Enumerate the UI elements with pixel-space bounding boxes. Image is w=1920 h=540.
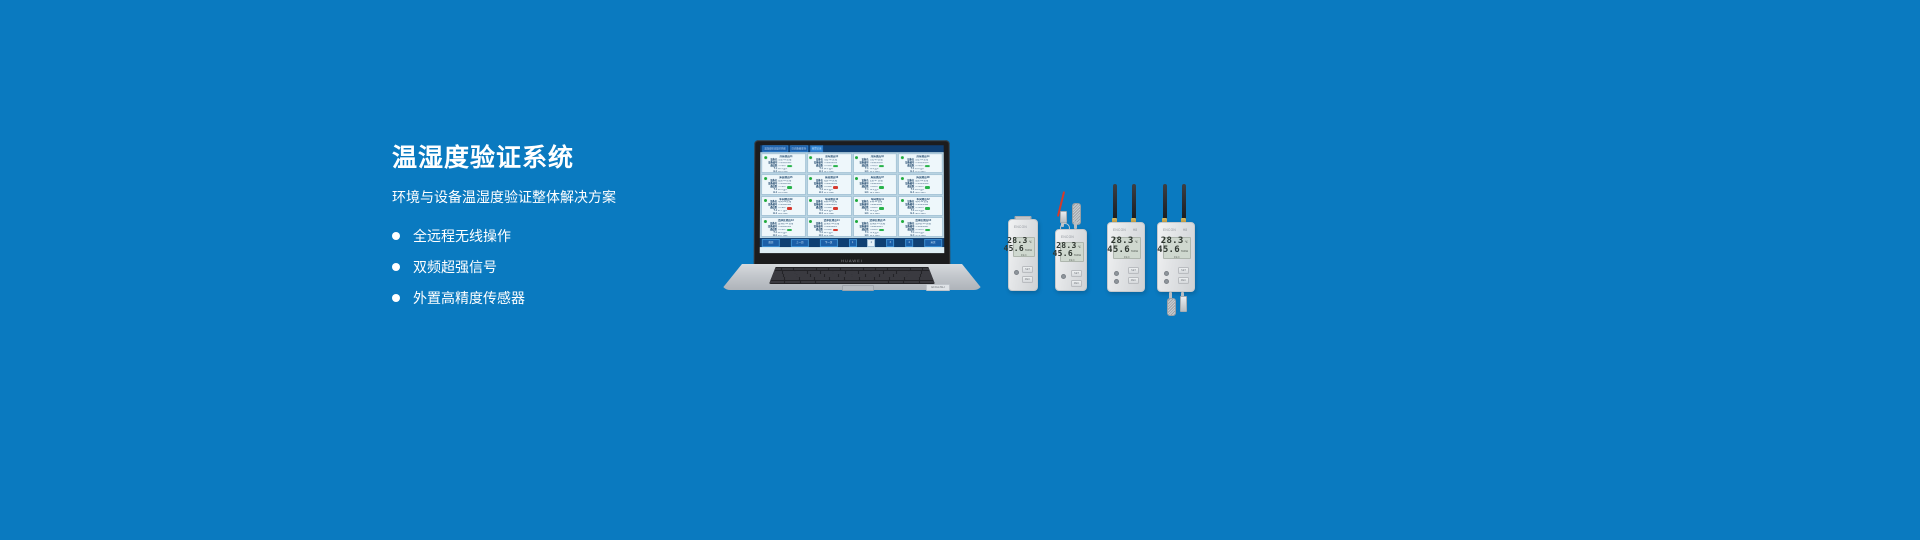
- feature-label: 外置高精度传感器: [413, 289, 525, 307]
- sensor-status-pill: [925, 229, 930, 231]
- sensor-card-row-hum: H-147.9 %RH: [905, 235, 941, 237]
- device-body: ENCON 28.3 ℃ 45.6 %RH REC SET REC: [1008, 219, 1038, 291]
- sensor-card-value: 48.6 %RH: [778, 171, 788, 173]
- pager-button[interactable]: 下一页: [820, 239, 838, 247]
- keyboard-row: [770, 274, 934, 276]
- sensor-card[interactable]: 车间测点11设备名车间-11 区域设备编号TH20250111通道数TH-2CH…: [852, 196, 897, 216]
- sensor-card-row-hum: H-149.5 %RH: [859, 192, 895, 194]
- sensor-card-value: 44.2 %RH: [870, 235, 880, 237]
- keyboard-key[interactable]: [880, 274, 893, 276]
- keyboard-spacebar[interactable]: [816, 281, 888, 283]
- sensor-card-title: 洁净区测点15: [860, 219, 896, 222]
- keyboard-key[interactable]: [833, 271, 845, 273]
- keyboard-row: [770, 281, 934, 283]
- keyboard-key[interactable]: [846, 271, 858, 273]
- device-led-icon: [1114, 271, 1119, 276]
- sensor-card-key: H-1: [768, 171, 777, 173]
- keyboard-key[interactable]: [904, 281, 918, 283]
- status-dot-icon: [901, 220, 904, 223]
- device-rec-button[interactable]: REC: [1022, 276, 1033, 283]
- keyboard-key[interactable]: [884, 271, 896, 273]
- sensor-card-row-hum: H-161.0 %RH: [814, 192, 850, 194]
- sensor-card-value: 50.1 %RH: [869, 171, 879, 173]
- sensor-card-value: 63.4 %RH: [824, 235, 834, 237]
- sensor-card-row-hum: H-148.0 %RH: [905, 213, 941, 215]
- status-dot-icon: [764, 199, 767, 202]
- product-banner: 温湿度验证系统 环境与设备温湿度验证整体解决方案 全远程无线操作 双频超强信号 …: [0, 0, 1920, 540]
- sensor-status-pill: [879, 165, 884, 167]
- tab-monitor[interactable]: 温湿度验证监控系统: [762, 145, 787, 152]
- keyboard-key[interactable]: [795, 271, 807, 273]
- device-set-button[interactable]: SET: [1128, 267, 1139, 274]
- status-dot-icon: [809, 199, 812, 202]
- sensor-card-key: H-1: [814, 213, 823, 215]
- keyboard-key[interactable]: [859, 271, 871, 273]
- sensor-status-pill: [925, 165, 930, 167]
- page-subtitle: 环境与设备温湿度验证整体解决方案: [392, 187, 722, 207]
- sensor-card-value: 51.3 %RH: [870, 213, 880, 215]
- status-dot-icon: [855, 199, 858, 202]
- sensor-card[interactable]: 冷库测点03设备名冷库-03 区域设备编号TH20250103通道数TH-2CH…: [852, 153, 897, 173]
- status-dot-icon: [901, 199, 904, 202]
- sensor-status-pill: [833, 207, 838, 209]
- keyboard-key[interactable]: [825, 274, 838, 276]
- device-led-icon: [1164, 271, 1169, 276]
- keyboard-key[interactable]: [907, 274, 920, 276]
- keyboard-key[interactable]: [920, 277, 934, 279]
- banner-copy: 温湿度验证系统 环境与设备温湿度验证整体解决方案 全远程无线操作 双频超强信号 …: [392, 143, 722, 320]
- sensor-card-value: 52.3 %RH: [824, 171, 834, 173]
- lcd-hum-value: 45.6: [1004, 245, 1024, 253]
- sensor-card-value: 61.0 %RH: [824, 192, 834, 194]
- sensor-card[interactable]: 洁净区测点16设备名洁净区-16 区域设备编号TH20250116通道数TH-2…: [898, 217, 943, 237]
- keyboard-key[interactable]: [801, 281, 815, 283]
- device-body: ENCON 28.3 ℃ 45.6 %RH REC SET REC: [1055, 229, 1087, 291]
- sensor-card-key: H-1: [814, 192, 823, 194]
- pager-button[interactable]: 1: [849, 239, 857, 247]
- sensor-status-pill: [925, 186, 930, 188]
- status-dot-icon: [809, 177, 812, 180]
- keyboard-key[interactable]: [888, 268, 899, 270]
- device-brand-label: ENCON: [1061, 235, 1074, 239]
- sensor-status-pill: [787, 207, 792, 209]
- device-brand-label: ENCON: [1014, 225, 1027, 229]
- keyboard-key[interactable]: [821, 271, 833, 273]
- status-dot-icon: [855, 177, 858, 180]
- keyboard-row: [770, 268, 934, 270]
- lcd-status-label: REC: [1166, 256, 1188, 259]
- device-button-group: SET REC: [1128, 267, 1139, 284]
- sensor-card-key: H-1: [859, 171, 868, 173]
- status-dot-icon: [809, 220, 812, 223]
- device-set-button[interactable]: SET: [1178, 267, 1189, 274]
- sensor-card-key: H-1: [860, 235, 869, 237]
- sensor-card[interactable]: 洁净区测点14设备名洁净区-14 区域设备编号TH20250114通道数TH-2…: [807, 217, 852, 237]
- keyboard-key[interactable]: [839, 274, 852, 276]
- sensor-card-key: H-1: [905, 213, 914, 215]
- laptop-foot-label: ENGLISH: [926, 284, 950, 291]
- sensor-card-title: 冷库测点03: [859, 155, 895, 158]
- antenna-icon: [1113, 184, 1117, 220]
- device-logger-wireless-3: ENCON H8 28.3 ℃ 45.6 %RH REC SET REC: [1107, 184, 1145, 292]
- sensor-card-row-hum: H-163.4 %RH: [814, 235, 850, 237]
- sensor-card-key: H-1: [768, 213, 777, 215]
- device-button-group: SET REC: [1022, 266, 1033, 283]
- sensor-card-title: 洁净区测点16: [905, 219, 941, 222]
- keyboard-key[interactable]: [770, 281, 784, 283]
- bullet-dot-icon: [392, 232, 400, 240]
- keyboard-key[interactable]: [852, 268, 863, 270]
- sensor-card[interactable]: 冷库测点01设备名冷库-01 区域设备编号TH20250101通道数TH-2CH…: [761, 153, 806, 173]
- sensor-card-title: 冷库测点02: [814, 155, 850, 158]
- sensor-card-row-hum: H-152.3 %RH: [814, 171, 850, 173]
- sensor-card-key: H-1: [859, 192, 868, 194]
- tab-alarms[interactable]: 报警记录: [810, 145, 824, 152]
- keyboard-key[interactable]: [800, 277, 814, 279]
- lcd-hum-row: 45.6 %RH: [1016, 245, 1032, 253]
- keyboard-key[interactable]: [852, 274, 865, 276]
- keyboard-key[interactable]: [875, 277, 889, 279]
- lcd-hum-value: 45.6: [1053, 250, 1073, 258]
- keyboard-key[interactable]: [794, 268, 805, 270]
- status-dot-icon: [855, 156, 858, 159]
- sensor-card[interactable]: 库房测点06设备名库房-06 区域设备编号TH20250106通道数TH-2CH…: [807, 174, 852, 194]
- sensor-card-row-hum: H-155.4 %RH: [768, 192, 804, 194]
- device-body: ENCON H8 28.3 ℃ 45.6 %RH REC SET REC: [1157, 222, 1195, 292]
- device-logger-probe-2: ENCON 28.3 ℃ 45.6 %RH REC SET REC: [1055, 199, 1087, 291]
- device-led-icon: [1014, 270, 1019, 275]
- sensor-card-row-hum: H-144.2 %RH: [860, 235, 896, 237]
- list-item: 外置高精度传感器: [392, 289, 722, 307]
- keyboard-key[interactable]: [841, 268, 852, 270]
- sensor-card-value: 58.2 %RH: [778, 213, 788, 215]
- sensor-card-value: 47.9 %RH: [915, 235, 926, 237]
- keyboard-key[interactable]: [866, 274, 879, 276]
- feature-label: 全远程无线操作: [413, 227, 511, 245]
- sensor-card[interactable]: 车间测点09设备名车间-09 区域设备编号TH20250109通道数TH-2CH…: [761, 196, 806, 216]
- sensor-card-title: 洁净区测点14: [814, 219, 850, 222]
- status-dot-icon: [764, 156, 767, 159]
- sensor-card[interactable]: 洁净区测点15设备名洁净区-15 区域设备编号TH20250115通道数TH-2…: [853, 217, 898, 237]
- feature-label: 双频超强信号: [413, 258, 497, 276]
- keyboard-key[interactable]: [783, 271, 795, 273]
- lcd-hum-row: 45.6 %RH: [1116, 246, 1138, 255]
- device-logger-compact-1: ENCON 28.3 ℃ 45.6 %RH REC SET REC: [1008, 219, 1038, 291]
- device-led-icon: [1061, 274, 1066, 279]
- sensor-card-value: 46.8 %RH: [915, 192, 925, 194]
- sensor-card[interactable]: 洁净区测点13设备名洁净区-13 区域设备编号TH20250113通道数TH-2…: [761, 217, 806, 237]
- keyboard-key[interactable]: [829, 268, 840, 270]
- lcd-hum-unit: %RH: [1025, 249, 1032, 252]
- lcd-temp-unit: ℃: [1185, 241, 1188, 244]
- lcd-hum-unit: %RH: [1074, 254, 1081, 257]
- sensor-card-row-hum: H-146.8 %RH: [905, 192, 941, 194]
- keyboard-key[interactable]: [897, 271, 909, 273]
- sensor-status-pill: [833, 186, 838, 188]
- lcd-status-label: REC: [1116, 256, 1138, 259]
- sensor-card-row-hum: H-158.2 %RH: [768, 213, 804, 215]
- sensor-status-pill: [879, 207, 884, 209]
- laptop-screen: 温湿度验证监控系统 历史数据查询 报警记录 冷库测点01设备名冷库-01 区域设…: [760, 145, 945, 253]
- sensor-card-value: 49.5 %RH: [869, 192, 879, 194]
- sensor-status-pill: [925, 207, 930, 209]
- lcd-hum-row: 45.6 %RH: [1166, 246, 1188, 255]
- sensor-card-key: H-1: [814, 171, 823, 173]
- page-title: 温湿度验证系统: [392, 143, 722, 173]
- sensor-card[interactable]: 库房测点05设备名库房-05 区域设备编号TH20250105通道数TH-2CH…: [761, 174, 806, 194]
- tab-history[interactable]: 历史数据查询: [790, 145, 808, 152]
- keyboard-key[interactable]: [864, 268, 875, 270]
- laptop-keyboard[interactable]: [769, 267, 935, 284]
- sensor-card[interactable]: 库房测点08设备名库房-08 区域设备编号TH20250108通道数TH-2CH…: [898, 174, 943, 194]
- sensor-status-pill: [787, 186, 792, 188]
- sensor-card-row-hum: H-159.9 %RH: [814, 213, 850, 215]
- laptop-lid: 温湿度验证监控系统 历史数据查询 报警记录 冷库测点01设备名冷库-01 区域设…: [754, 140, 951, 268]
- sensor-card-value: 59.9 %RH: [824, 213, 834, 215]
- keyboard-key[interactable]: [876, 268, 887, 270]
- sensor-card-title: 冷库测点04: [905, 155, 941, 158]
- lcd-status-label: REC: [1016, 254, 1032, 257]
- device-lcd: 28.3 ℃ 45.6 %RH REC: [1163, 237, 1191, 259]
- device-logger-wireless-4: ENCON H8 28.3 ℃ 45.6 %RH REC SET REC: [1157, 184, 1195, 314]
- status-dot-icon: [809, 156, 812, 159]
- device-model-label: H8: [1133, 228, 1137, 232]
- keyboard-key[interactable]: [817, 268, 828, 270]
- list-item: 全远程无线操作: [392, 227, 722, 245]
- sensor-status-pill: [833, 229, 838, 231]
- keyboard-key[interactable]: [905, 277, 919, 279]
- laptop-base: ENGLISH: [721, 264, 983, 296]
- probe-tip-icon: [1180, 296, 1187, 312]
- keyboard-key[interactable]: [920, 281, 934, 283]
- sensor-card-key: H-1: [860, 213, 869, 215]
- sensor-card[interactable]: 车间测点10设备名车间-10 区域设备编号TH20250110通道数TH-2CH…: [807, 196, 852, 216]
- status-dot-icon: [764, 177, 767, 180]
- bullet-dot-icon: [392, 263, 400, 271]
- sensor-card-value: 55.4 %RH: [778, 192, 788, 194]
- device-button-group: SET REC: [1178, 267, 1189, 284]
- laptop-illustration: 温湿度验证监控系统 历史数据查询 报警记录 冷库测点01设备名冷库-01 区域设…: [721, 140, 983, 296]
- probe-head-stem-icon: [1074, 221, 1077, 229]
- pager-button[interactable]: 2: [867, 239, 875, 247]
- sensor-card-row-hum: H-150.1 %RH: [859, 171, 895, 173]
- sensor-card-row-hum: H-148.6 %RH: [768, 171, 804, 173]
- keyboard-key[interactable]: [805, 268, 816, 270]
- sensor-card-key: H-1: [905, 192, 914, 194]
- sensor-card-key: H-1: [814, 235, 823, 237]
- sensor-status-pill: [879, 229, 884, 231]
- device-lcd: 28.3 ℃ 45.6 %RH REC: [1113, 237, 1141, 259]
- pager-button[interactable]: 首页: [762, 239, 780, 247]
- antenna-icon: [1132, 184, 1136, 220]
- status-dot-icon: [763, 220, 766, 223]
- device-led-icon: [1164, 279, 1169, 284]
- sensor-card-grid: 冷库测点01设备名冷库-01 区域设备编号TH20250101通道数TH-2CH…: [760, 152, 944, 238]
- device-set-button[interactable]: SET: [1022, 266, 1033, 273]
- keyboard-key[interactable]: [770, 277, 784, 279]
- antenna-icon: [1182, 184, 1186, 220]
- sensor-card-value: 47.2 %RH: [915, 171, 925, 173]
- keyboard-key[interactable]: [811, 274, 824, 276]
- sensor-card[interactable]: 库房测点07设备名库房-07 区域设备编号TH20250107通道数TH-2CH…: [852, 174, 897, 194]
- status-dot-icon: [855, 220, 858, 223]
- sensor-card-title: 冷库测点01: [768, 155, 804, 158]
- keyboard-key[interactable]: [889, 281, 903, 283]
- lcd-status-label: REC: [1063, 259, 1081, 262]
- sensor-card-key: H-1: [768, 235, 777, 237]
- keyboard-key[interactable]: [911, 268, 922, 270]
- keyboard-key[interactable]: [909, 271, 921, 273]
- keyboard-row: [770, 271, 934, 273]
- lcd-hum-unit: %RH: [1131, 250, 1138, 253]
- keyboard-key[interactable]: [845, 277, 859, 279]
- device-brand-label: ENCON: [1113, 228, 1126, 232]
- laptop-brand-label: HUAWEI: [841, 258, 863, 263]
- lcd-temp-unit: ℃: [1135, 241, 1138, 244]
- keyboard-key[interactable]: [782, 268, 793, 270]
- device-led-icon: [1114, 279, 1119, 284]
- sensor-status-pill: [787, 229, 792, 231]
- device-lcd: 28.3 ℃ 45.6 %RH REC: [1013, 237, 1035, 257]
- lcd-hum-value: 45.6: [1157, 246, 1180, 255]
- app-tabbar: 温湿度验证监控系统 历史数据查询 报警记录: [760, 145, 943, 152]
- sensor-card-row-hum: H-151.3 %RH: [860, 213, 896, 215]
- keyboard-key[interactable]: [830, 277, 844, 279]
- status-dot-icon: [901, 156, 904, 159]
- bullet-dot-icon: [392, 294, 400, 302]
- device-button-group: SET REC: [1071, 270, 1082, 287]
- pager-button[interactable]: 上一页: [791, 239, 809, 247]
- feature-list: 全远程无线操作 双频超强信号 外置高精度传感器: [392, 227, 722, 307]
- device-lcd: 28.3 ℃ 45.6 %RH REC: [1060, 242, 1084, 262]
- pager-button[interactable]: 末页: [924, 239, 942, 247]
- sensor-card[interactable]: 车间测点12设备名车间-12 区域设备编号TH20250112通道数TH-2CH…: [898, 196, 943, 216]
- pager-button[interactable]: 4: [905, 239, 913, 247]
- keyboard-key[interactable]: [797, 274, 810, 276]
- pager-button[interactable]: 3: [886, 239, 894, 247]
- keyboard-key[interactable]: [784, 274, 797, 276]
- lcd-hum-value: 45.6: [1107, 246, 1130, 255]
- device-rec-button[interactable]: REC: [1178, 277, 1189, 284]
- device-rec-button[interactable]: REC: [1071, 280, 1082, 287]
- sensor-status-pill: [879, 186, 884, 188]
- sensor-card-key: H-1: [905, 235, 914, 237]
- device-set-button[interactable]: SET: [1071, 270, 1082, 277]
- keyboard-key[interactable]: [808, 271, 820, 273]
- list-item: 双频超强信号: [392, 258, 722, 276]
- app-pager: 首页上一页下一页1234末页: [760, 238, 944, 247]
- lcd-hum-unit: %RH: [1181, 250, 1188, 253]
- keyboard-key[interactable]: [815, 277, 829, 279]
- keyboard-key[interactable]: [785, 281, 799, 283]
- keyboard-key[interactable]: [899, 268, 910, 270]
- keyboard-key[interactable]: [871, 271, 883, 273]
- device-body: ENCON H8 28.3 ℃ 45.6 %RH REC SET REC: [1107, 222, 1145, 292]
- lcd-temp-unit: ℃: [1029, 241, 1032, 244]
- device-brand-label: ENCON: [1163, 228, 1176, 232]
- sensor-card-value: 45.7 %RH: [778, 235, 789, 237]
- sensor-card-row-hum: H-147.2 %RH: [905, 171, 941, 173]
- antenna-icon: [1163, 184, 1167, 220]
- keyboard-key[interactable]: [890, 277, 904, 279]
- sensor-card-title: 洁净区测点13: [768, 219, 804, 222]
- keyboard-key[interactable]: [860, 277, 874, 279]
- keyboard-key[interactable]: [785, 277, 799, 279]
- laptop-trackpad[interactable]: [842, 285, 874, 291]
- sensor-card[interactable]: 冷库测点04设备名冷库-04 区域设备编号TH20250104通道数TH-2CH…: [898, 153, 943, 173]
- keyboard-row: [770, 277, 934, 279]
- lcd-temp-unit: ℃: [1078, 246, 1081, 249]
- sensor-card-value: 48.0 %RH: [915, 213, 925, 215]
- status-dot-icon: [901, 177, 904, 180]
- lcd-hum-row: 45.6 %RH: [1063, 250, 1081, 258]
- sensor-card-row-hum: H-145.7 %RH: [768, 235, 804, 237]
- probe-connector-icon: [1060, 211, 1067, 223]
- sensor-card-key: H-1: [905, 171, 914, 173]
- probe-sensor-head-icon: [1167, 298, 1176, 316]
- device-model-label: H8: [1183, 228, 1187, 232]
- sensor-card[interactable]: 冷库测点02设备名冷库-02 区域设备编号TH20250102通道数TH-2CH…: [807, 153, 852, 173]
- keyboard-key[interactable]: [894, 274, 907, 276]
- sensor-card-key: H-1: [768, 192, 777, 194]
- device-rec-button[interactable]: REC: [1128, 277, 1139, 284]
